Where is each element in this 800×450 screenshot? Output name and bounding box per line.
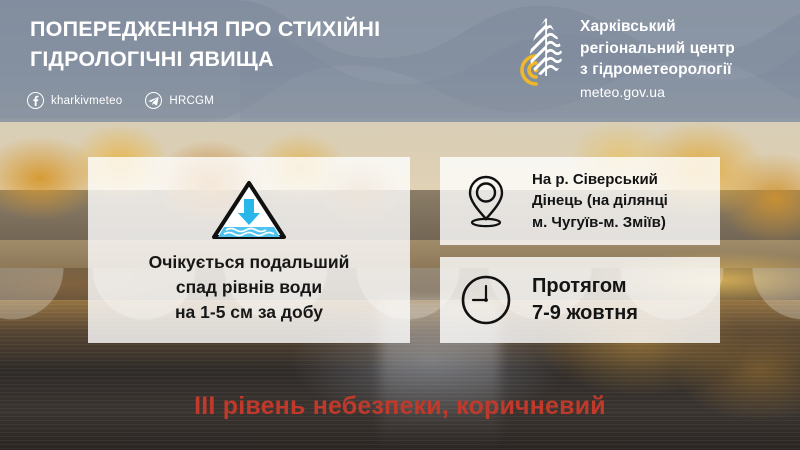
location-line-1: На р. Сіверський [532, 169, 668, 191]
page-title: ПОПЕРЕДЖЕННЯ ПРО СТИХІЙНІ ГІДРОЛОГІЧНІ Я… [30, 14, 500, 74]
forecast-card: Очікується подальший спад рівнів води на… [88, 157, 410, 343]
clock-icon [460, 274, 512, 326]
forecast-line-2: спад рівнів води [149, 275, 350, 300]
danger-level-text: III рівень небезпеки, коричневий [0, 392, 800, 421]
clock-center-dot [484, 298, 488, 302]
location-icon-slot [440, 174, 532, 228]
telegram-handle[interactable]: HRCGM [169, 95, 214, 107]
logo-center-stem [545, 16, 547, 88]
location-line-2: Дінець (на ділянці [532, 190, 668, 212]
map-pin-shadow [472, 219, 500, 226]
period-text: Протягом 7-9 жовтня [532, 273, 638, 327]
clock-icon-slot [440, 274, 532, 326]
brand-line-2: регіональний центр [580, 38, 735, 60]
brand-text: Харківський регіональний центр з гідроме… [580, 16, 735, 103]
location-line-3: м. Чугуїв-м. Зміїв) [532, 212, 668, 234]
map-pin-icon [465, 174, 507, 228]
page-title-line-2: ГІДРОЛОГІЧНІ ЯВИЩА [30, 44, 500, 74]
period-line-2: 7-9 жовтня [532, 300, 638, 327]
water-level-down-warning-icon [210, 179, 288, 241]
page-title-line-1: ПОПЕРЕДЖЕННЯ ПРО СТИХІЙНІ [30, 14, 500, 44]
facebook-handle[interactable]: kharkivmeteo [51, 95, 122, 107]
brand-block: Харківський регіональний центр з гідроме… [516, 16, 735, 103]
droplet-waves-logo [516, 16, 568, 88]
location-text: На р. Сіверський Дінець (на ділянці м. Ч… [532, 169, 668, 234]
forecast-text: Очікується подальший спад рівнів води на… [149, 250, 350, 325]
social-links: kharkivmeteo HRCGM [27, 92, 214, 109]
brand-website-url[interactable]: meteo.gov.ua [580, 81, 735, 103]
header-band: ПОПЕРЕДЖЕННЯ ПРО СТИХІЙНІ ГІДРОЛОГІЧНІ Я… [0, 0, 800, 122]
telegram-glyph [148, 96, 159, 106]
period-line-1: Протягом [532, 273, 638, 300]
facebook-glyph [31, 95, 40, 106]
location-card: На р. Сіверський Дінець (на ділянці м. Ч… [440, 157, 720, 245]
forecast-line-3: на 1-5 см за добу [149, 300, 350, 325]
forecast-line-1: Очікується подальший [149, 250, 350, 275]
brand-line-3: з гідрометеорології [580, 59, 735, 81]
logo-droplet-body [524, 16, 566, 88]
period-card: Протягом 7-9 жовтня [440, 257, 720, 343]
telegram-icon[interactable] [145, 92, 162, 109]
poster-canvas: ПОПЕРЕДЖЕННЯ ПРО СТИХІЙНІ ГІДРОЛОГІЧНІ Я… [0, 0, 800, 450]
brand-line-1: Харківський [580, 16, 735, 38]
facebook-icon[interactable] [27, 92, 44, 109]
